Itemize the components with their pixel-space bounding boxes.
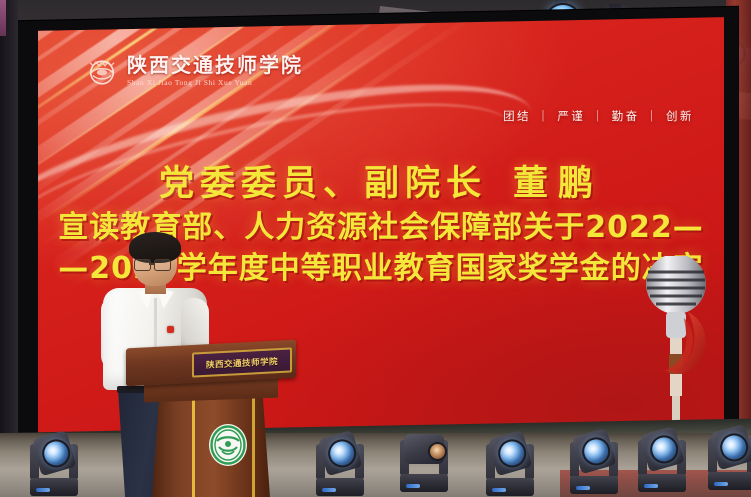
light-base: [708, 472, 751, 490]
moving-head-light-1: [28, 424, 80, 496]
party-emblem-pin: [167, 326, 174, 333]
glasses-lens-left-icon: [134, 259, 151, 271]
light-lens-icon: [325, 436, 360, 471]
conference-stage-photo: 陕西交通技师学院 Shan Xi Jiao Tong Ji Shi Xue Yu…: [0, 0, 751, 497]
speaker-name: 董鹏: [513, 164, 603, 204]
school-crest-icon: [84, 53, 120, 89]
light-base: [570, 476, 618, 494]
light-lens-icon: [647, 432, 682, 467]
moving-head-light-7: [706, 418, 751, 490]
light-base: [638, 474, 686, 492]
moving-head-light-4: [484, 424, 536, 496]
light-lens-icon: [579, 434, 614, 469]
glasses-lens-right-icon: [154, 259, 171, 271]
glasses-bridge-icon: [149, 263, 154, 265]
school-name-pinyin: Shan Xi Jiao Tong Ji Shi Xue Yuan: [127, 78, 303, 87]
school-logo: 陕西交通技师学院 Shan Xi Jiao Tong Ji Shi Xue Yu…: [84, 53, 303, 89]
light-base: [486, 478, 534, 496]
school-emblem-icon: [208, 423, 248, 467]
screen-left-bezel: [0, 0, 18, 440]
school-motto: 团结 ｜ 严谨 ｜ 勤奋 ｜ 创新: [503, 108, 694, 124]
school-name-cn: 陕西交通技师学院: [127, 55, 303, 75]
headline-line-1: 党委委员、副院长董鹏: [38, 166, 724, 203]
moving-head-light-6: [636, 420, 688, 492]
moving-head-light-3: [398, 420, 450, 492]
light-lens-icon: [717, 430, 751, 465]
moving-head-light-2: [314, 424, 366, 496]
light-base: [400, 474, 448, 492]
light-base: [30, 478, 78, 496]
wall-light-glow: [0, 0, 6, 36]
light-lens-icon: [495, 436, 530, 471]
light-lens-icon: [428, 442, 447, 461]
speaker-title: 党委委员、副院长: [159, 164, 487, 204]
podium-plaque: 陕西交通技师学院: [192, 347, 292, 377]
retro-microphone-icon: [626, 256, 722, 435]
light-base: [316, 478, 364, 496]
podium: 陕西交通技师学院: [126, 344, 296, 497]
light-head: [404, 434, 444, 464]
light-lens-icon: [39, 436, 74, 471]
podium-gold-stripe: [192, 398, 195, 497]
podium-gold-stripe-2: [252, 398, 255, 497]
moving-head-light-5: [568, 422, 620, 494]
podium-plaque-text: 陕西交通技师学院: [206, 355, 278, 371]
